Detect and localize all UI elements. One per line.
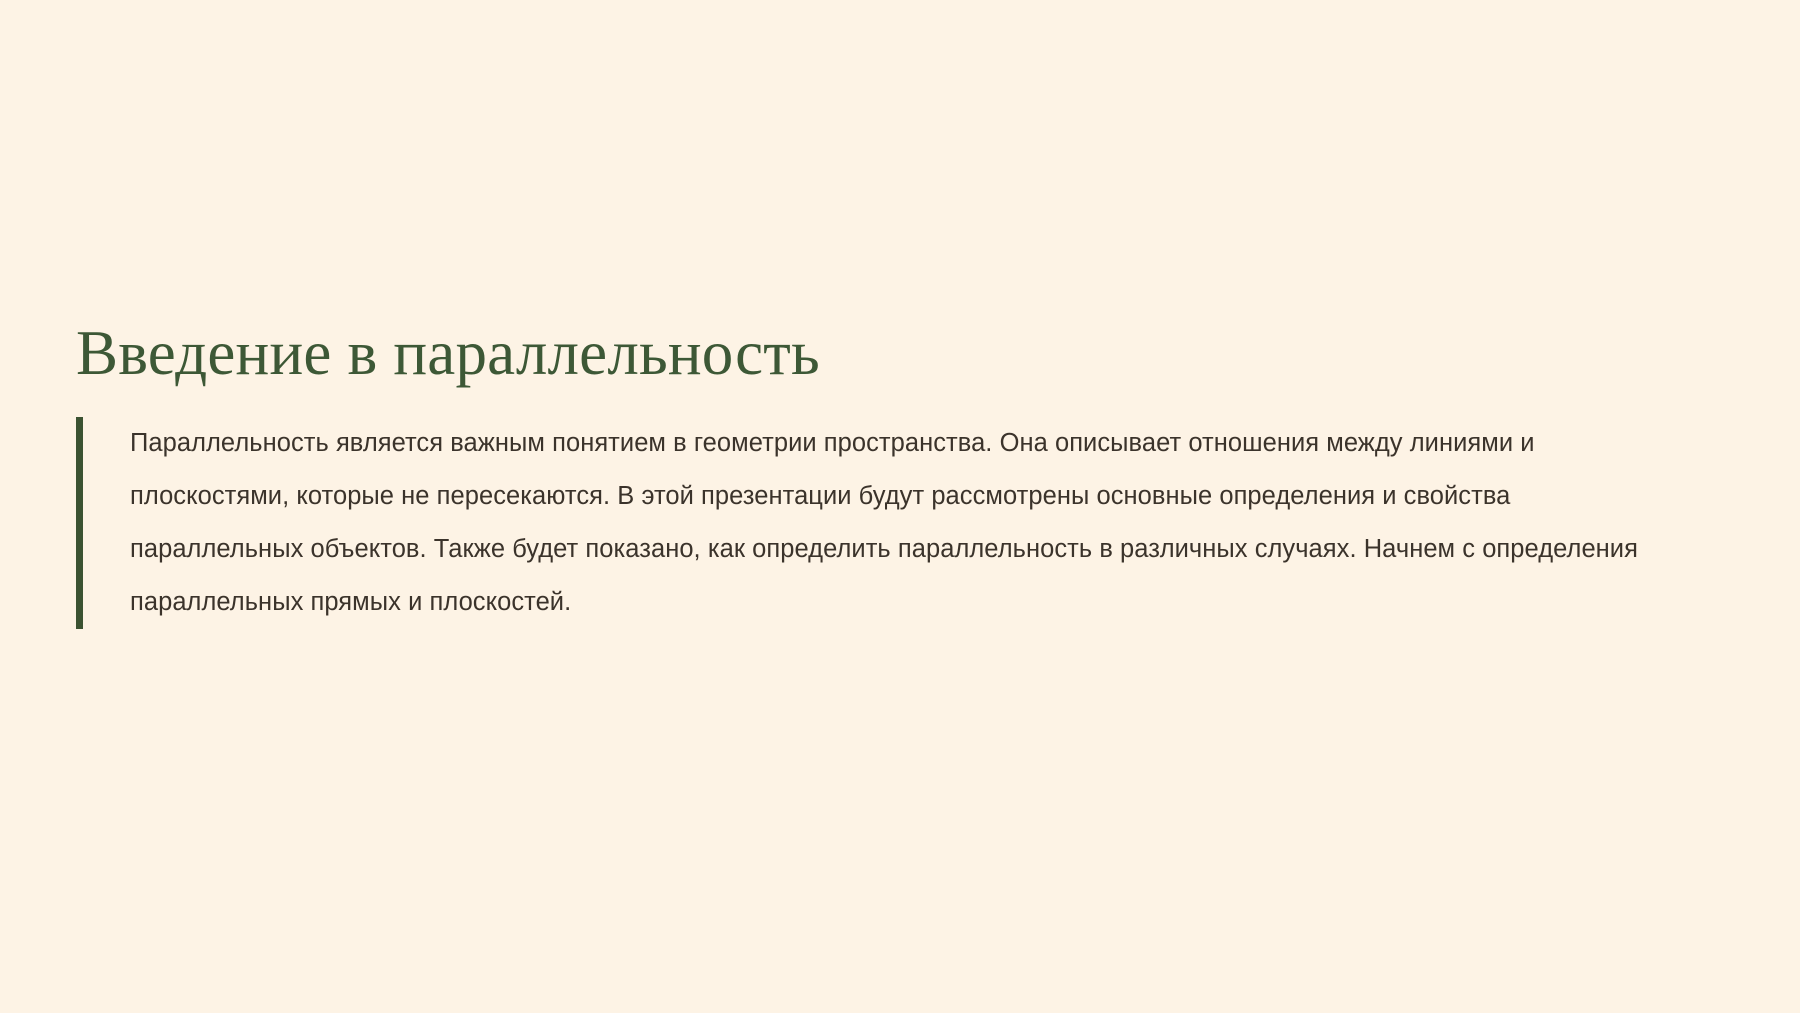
page-title: Введение в параллельность <box>76 318 1716 389</box>
accent-bar <box>76 417 83 629</box>
body-paragraph: Параллельность является важным понятием … <box>83 417 1670 629</box>
slide-content: Введение в параллельность Параллельность… <box>76 318 1716 629</box>
body-block: Параллельность является важным понятием … <box>76 417 1716 629</box>
presentation-slide: Введение в параллельность Параллельность… <box>0 0 1800 1013</box>
